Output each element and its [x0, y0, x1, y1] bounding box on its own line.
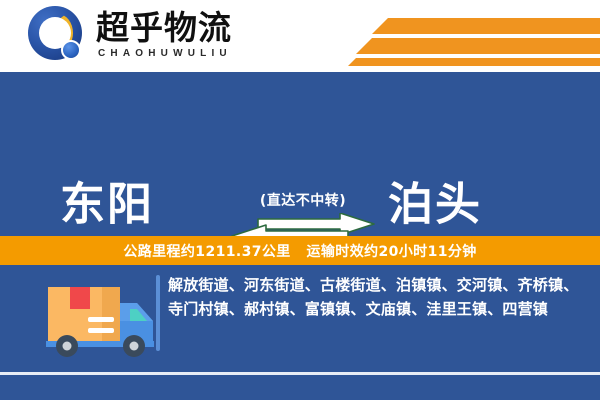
brand-name-en: CHAOHUWULIU — [98, 48, 232, 59]
banner-header: 超乎物流 CHAOHUWULIU — [0, 0, 600, 72]
destination-city: 泊头 — [388, 168, 482, 233]
brand-name-cn: 超乎物流 — [96, 11, 232, 46]
banner-footer — [0, 375, 600, 400]
origin-city: 东阳 — [60, 168, 154, 233]
route-hero: 东阳 (直达不中转) 【往返运输】 泊头 — [0, 72, 600, 236]
logo-dot-shape — [61, 40, 81, 60]
brand-wordmark: 超乎物流 CHAOHUWULIU — [96, 11, 232, 60]
direct-route-note: (直达不中转) — [228, 190, 378, 210]
logistics-route-banner: 超乎物流 CHAOHUWULIU 东阳 (直达不中转) 【往返运 — [0, 0, 600, 400]
coverage-areas-text: 解放街道、河东街道、古楼街道、泊镇镇、交河镇、齐桥镇、寺门村镇、郝村镇、富镇镇、… — [168, 273, 586, 321]
delivery-truck-icon — [42, 277, 162, 359]
distance-and-duration-text: 公路里程约1211.37公里 运输时效约20小时11分钟 — [123, 241, 476, 261]
chaohu-q-logo-icon — [28, 6, 86, 64]
orange-speed-stripes-icon — [330, 8, 600, 66]
brand-logo: 超乎物流 CHAOHUWULIU — [28, 6, 232, 64]
route-info-bar: 公路里程约1211.37公里 运输时效约20小时11分钟 — [0, 236, 600, 265]
coverage-areas: 解放街道、河东街道、古楼街道、泊镇镇、交河镇、齐桥镇、寺门村镇、郝村镇、富镇镇、… — [168, 273, 586, 321]
coverage-accent-bar — [156, 275, 160, 351]
coverage-section: 解放街道、河东街道、古楼街道、泊镇镇、交河镇、齐桥镇、寺门村镇、郝村镇、富镇镇、… — [0, 265, 600, 372]
